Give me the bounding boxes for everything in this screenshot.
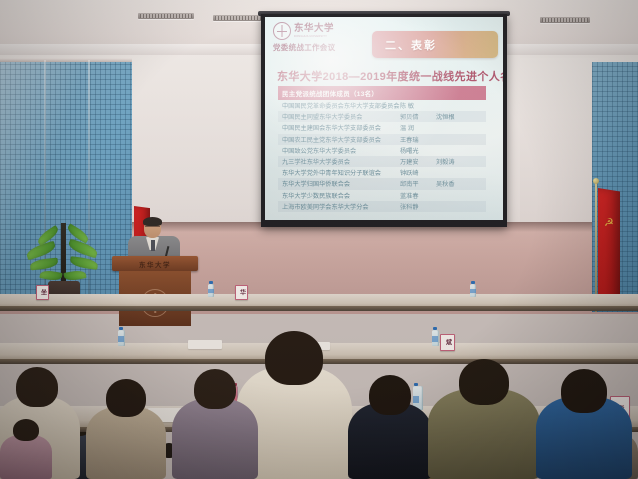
water-bottle-icon [470,284,476,297]
water-bottle-icon [208,284,214,297]
table-row: 中国农工民主党东华大学支部委员会 王春瑞 [278,134,486,145]
name-card: 坐 [36,285,49,300]
person-cell: 王春瑞 [400,135,436,144]
glasses-icon [145,226,160,230]
flag-finial-icon [593,178,599,184]
name-card-text: 华 [239,289,245,296]
name-card: 斌 [440,334,455,351]
university-name-en: DONGHUA UNIVERSITY [294,35,334,38]
person-cell: 钟跃崎 [400,168,436,177]
org-cell: 东华大学少数民族联合会 [282,191,400,200]
org-cell: 中国民主同盟东华大学委员会 [282,112,400,121]
person-cell: 陈 敏 [400,101,436,110]
person-cell: 温 润 [400,123,436,132]
audience-area: 坐 华 [0,268,638,479]
hammer-sickle-icon: ☭ [604,218,615,229]
table-row: 中国国民党革命委员会东华大学支部委员会 陈 敏 [278,100,486,111]
org-cell: 中国农工民主党东华大学支部委员会 [282,135,400,144]
audience-member [86,379,166,479]
table-header: 民主党派统战团体成员（13名） [278,86,486,100]
university-seal-icon [273,22,291,40]
university-name: 东华大学 [294,24,334,34]
air-vent-icon [540,17,590,23]
org-cell: 中国国民党革命委员会东华大学支部委员会 [282,101,400,110]
name-card-text: 坐 [40,289,46,296]
document-paper [188,340,222,349]
slide-brand: 东华大学 DONGHUA UNIVERSITY 党委统战工作会议 [273,22,359,53]
conference-name: 党委统战工作会议 [273,42,359,53]
person-cell: 沈恒根 [436,112,476,121]
conference-table [0,294,638,311]
table-row: 中国民主同盟东华大学委员会 郭贝倩 沈恒根 [278,111,486,122]
org-cell: 东华大学归国华侨联合会 [282,179,400,188]
org-cell: 中国民主建国会东华大学支部委员会 [282,123,400,132]
org-cell: 上海市欧美同学会东华大学分会 [282,202,400,211]
person-cell: 刘毅涛 [436,157,476,166]
presentation-slide: 东华大学 DONGHUA UNIVERSITY 党委统战工作会议 二、表彰 东华… [265,17,503,220]
table-row: 九三学社东华大学委员会 万建安 刘毅涛 [278,156,486,167]
org-cell: 东华大学党外中青年知识分子联谊会 [282,168,400,177]
person-cell: 杨曙光 [400,146,436,155]
water-bottle-icon [118,330,125,346]
table-row: 东华大学归国华侨联合会 邱南平 吴秋香 [278,178,486,189]
person-cell: 吴秋香 [436,179,476,188]
section-banner: 二、表彰 [372,31,498,58]
audience-member [428,359,540,479]
audience-member [348,375,432,479]
table-row: 东华大学少数民族联合会 蓝准春 [278,190,486,201]
person-cell: 张科静 [400,202,436,211]
person-cell: 邱南平 [400,179,436,188]
honoree-table: 民主党派统战团体成员（13名） 中国国民党革命委员会东华大学支部委员会 陈 敏 … [278,86,486,212]
air-vent-icon [138,13,194,19]
table-row: 上海市欧美同学会东华大学分会 张科静 [278,201,486,212]
person-cell: 万建安 [400,157,436,166]
water-bottle-icon [432,330,439,346]
org-cell: 九三学社东华大学委员会 [282,157,400,166]
audience-member [0,419,52,479]
section-banner-label: 二、表彰 [385,37,437,53]
conference-photo: 东华大学 DONGHUA UNIVERSITY 党委统战工作会议 二、表彰 东华… [0,0,638,479]
org-cell: 中国致公党东华大学委员会 [282,146,400,155]
person-cell: 蓝准春 [400,191,436,200]
table-row: 中国致公党东华大学委员会 杨曙光 [278,145,486,156]
name-card-text: 斌 [445,339,451,346]
name-card: 华 [235,285,248,300]
slide-heading: 东华大学2018—2019年度统一战线先进个人名单 [277,68,491,84]
projection-screen: 东华大学 DONGHUA UNIVERSITY 党委统战工作会议 二、表彰 东华… [265,17,503,220]
person-cell: 郭贝倩 [400,112,436,121]
audience-member [172,369,258,479]
table-row: 中国民主建国会东华大学支部委员会 温 润 [278,122,486,133]
table-row: 东华大学党外中青年知识分子联谊会 钟跃崎 [278,167,486,178]
panel-trim [0,58,132,62]
audience-member [536,369,632,479]
